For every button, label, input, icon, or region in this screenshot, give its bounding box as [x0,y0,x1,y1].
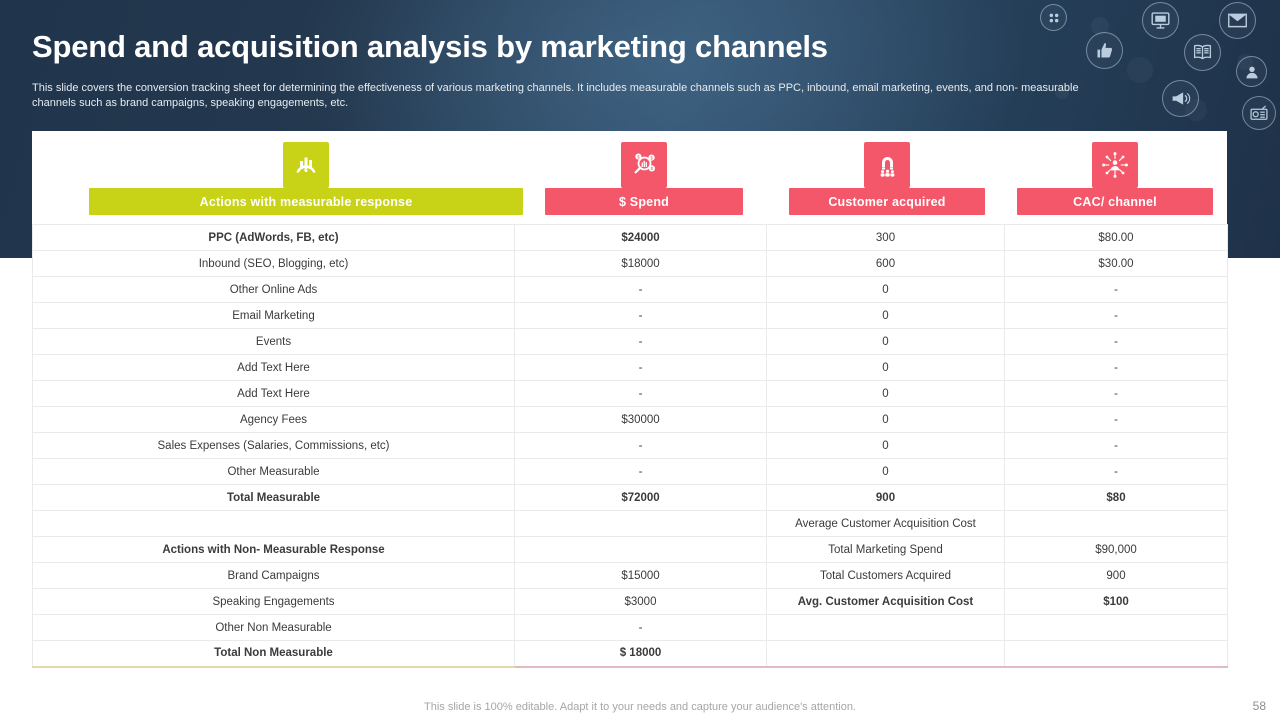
table-row: Brand Campaigns$15000Total Customers Acq… [33,563,1228,589]
table-cell: - [515,277,767,303]
table-cell [767,641,1005,667]
table-cell: $80.00 [1005,225,1228,251]
table-cell [515,511,767,537]
column-header-actions-label: Actions with measurable response [89,188,523,215]
table-cell: $15000 [515,563,767,589]
table-row: Events-0- [33,329,1228,355]
table-cell: $18000 [515,251,767,277]
page-number: 58 [1253,699,1266,713]
table-cell: 0 [767,381,1005,407]
user-profile-icon [1236,56,1267,87]
table-row: Agency Fees$300000- [33,407,1228,433]
table-cell: $ 18000 [515,641,767,667]
table-cell: - [1005,459,1228,485]
column-header-customer-acquired-label: Customer acquired [789,188,985,215]
table-cell: $30000 [515,407,767,433]
table-cell: Sales Expenses (Salaries, Commissions, e… [33,433,515,459]
table-row: Total Measurable$72000900$80 [33,485,1228,511]
table-cell: 0 [767,329,1005,355]
table-cell: Email Marketing [33,303,515,329]
table-row: Add Text Here-0- [33,355,1228,381]
radio-icon [1242,96,1276,130]
table-cell: Add Text Here [33,355,515,381]
table-cell: 0 [767,459,1005,485]
table-row: Actions with Non- Measurable ResponseTot… [33,537,1228,563]
table-cell: Total Non Measurable [33,641,515,667]
table-cell [1005,511,1228,537]
table-cell: $100 [1005,589,1228,615]
settings-gear-icon [1040,4,1067,31]
table-cell: 300 [767,225,1005,251]
table-row: Email Marketing-0- [33,303,1228,329]
footer-note: This slide is 100% editable. Adapt it to… [0,701,1280,713]
table-row: Sales Expenses (Salaries, Commissions, e… [33,433,1228,459]
table-cell: - [515,303,767,329]
table-row: PPC (AdWords, FB, etc)$24000300$80.00 [33,225,1228,251]
table-cell: Agency Fees [33,407,515,433]
slide-root: Spend and acquisition analysis by market… [0,0,1280,720]
table-cell [515,537,767,563]
table-cell: Other Non Measurable [33,615,515,641]
page-title: Spend and acquisition analysis by market… [32,29,828,65]
page-subtitle: This slide covers the conversion trackin… [32,81,1092,111]
table-cell: - [515,615,767,641]
column-header-cac-label: CAC/ channel [1017,188,1213,215]
table-cell: - [1005,433,1228,459]
column-header-spend-label: $ Spend [545,188,743,215]
table-cell: Other Online Ads [33,277,515,303]
table-cell: - [515,459,767,485]
table-cell: Total Measurable [33,485,515,511]
table-row: Inbound (SEO, Blogging, etc)$18000600$30… [33,251,1228,277]
table-cell: Events [33,329,515,355]
table-cell: Actions with Non- Measurable Response [33,537,515,563]
table-cell: - [1005,381,1228,407]
monitor-icon [1142,2,1179,39]
table-cell: - [1005,407,1228,433]
table-cell: 0 [767,277,1005,303]
table-cell: Total Marketing Spend [767,537,1005,563]
table-cell: - [1005,277,1228,303]
table-cell: $30.00 [1005,251,1228,277]
table-cell: Total Customers Acquired [767,563,1005,589]
table-row: Average Customer Acquisition Cost [33,511,1228,537]
table-cell: Inbound (SEO, Blogging, etc) [33,251,515,277]
table-cell: - [1005,329,1228,355]
table-cell: 900 [1005,563,1228,589]
table-row: Other Non Measurable- [33,615,1228,641]
table-cell: Brand Campaigns [33,563,515,589]
table-cell: 0 [767,303,1005,329]
table-cell: - [1005,303,1228,329]
table-cell: - [515,381,767,407]
table-row: Add Text Here-0- [33,381,1228,407]
table-cell: - [515,355,767,381]
table-cell: Add Text Here [33,381,515,407]
table-cell: 0 [767,407,1005,433]
table-cell: $72000 [515,485,767,511]
money-magnifier-icon: $ $ $ [621,142,667,188]
table-cell: - [1005,355,1228,381]
table-cell [33,511,515,537]
table-cell [1005,641,1228,667]
table-cell: Avg. Customer Acquisition Cost [767,589,1005,615]
table-cell: 0 [767,433,1005,459]
spend-acquisition-table: PPC (AdWords, FB, etc)$24000300$80.00Inb… [32,224,1228,668]
table-row: Other Online Ads-0- [33,277,1228,303]
table-row: Speaking Engagements$3000Avg. Customer A… [33,589,1228,615]
table-cell: 0 [767,355,1005,381]
table-cell: $24000 [515,225,767,251]
table-cell: - [515,433,767,459]
megaphone-icon [1162,80,1199,117]
table-cell: - [515,329,767,355]
table-cell: 600 [767,251,1005,277]
table-cell [1005,615,1228,641]
table-cell: PPC (AdWords, FB, etc) [33,225,515,251]
table-cell: Speaking Engagements [33,589,515,615]
table-cell: $80 [1005,485,1228,511]
table-cell: $90,000 [1005,537,1228,563]
book-icon [1184,34,1221,71]
magnet-people-icon [864,142,910,188]
table-row: Total Non Measurable$ 18000 [33,641,1228,667]
thumbs-up-icon [1086,32,1123,69]
bar-chart-icon [283,142,329,188]
table-cell [767,615,1005,641]
table-cell: 900 [767,485,1005,511]
table-cell: $3000 [515,589,767,615]
table-cell: Average Customer Acquisition Cost [767,511,1005,537]
envelope-icon [1219,2,1256,39]
network-person-icon [1092,142,1138,188]
table-row: Other Measurable-0- [33,459,1228,485]
table-cell: Other Measurable [33,459,515,485]
column-header-chips: Actions with measurable response $ [32,131,1227,224]
table-card: Actions with measurable response $ [32,131,1227,672]
